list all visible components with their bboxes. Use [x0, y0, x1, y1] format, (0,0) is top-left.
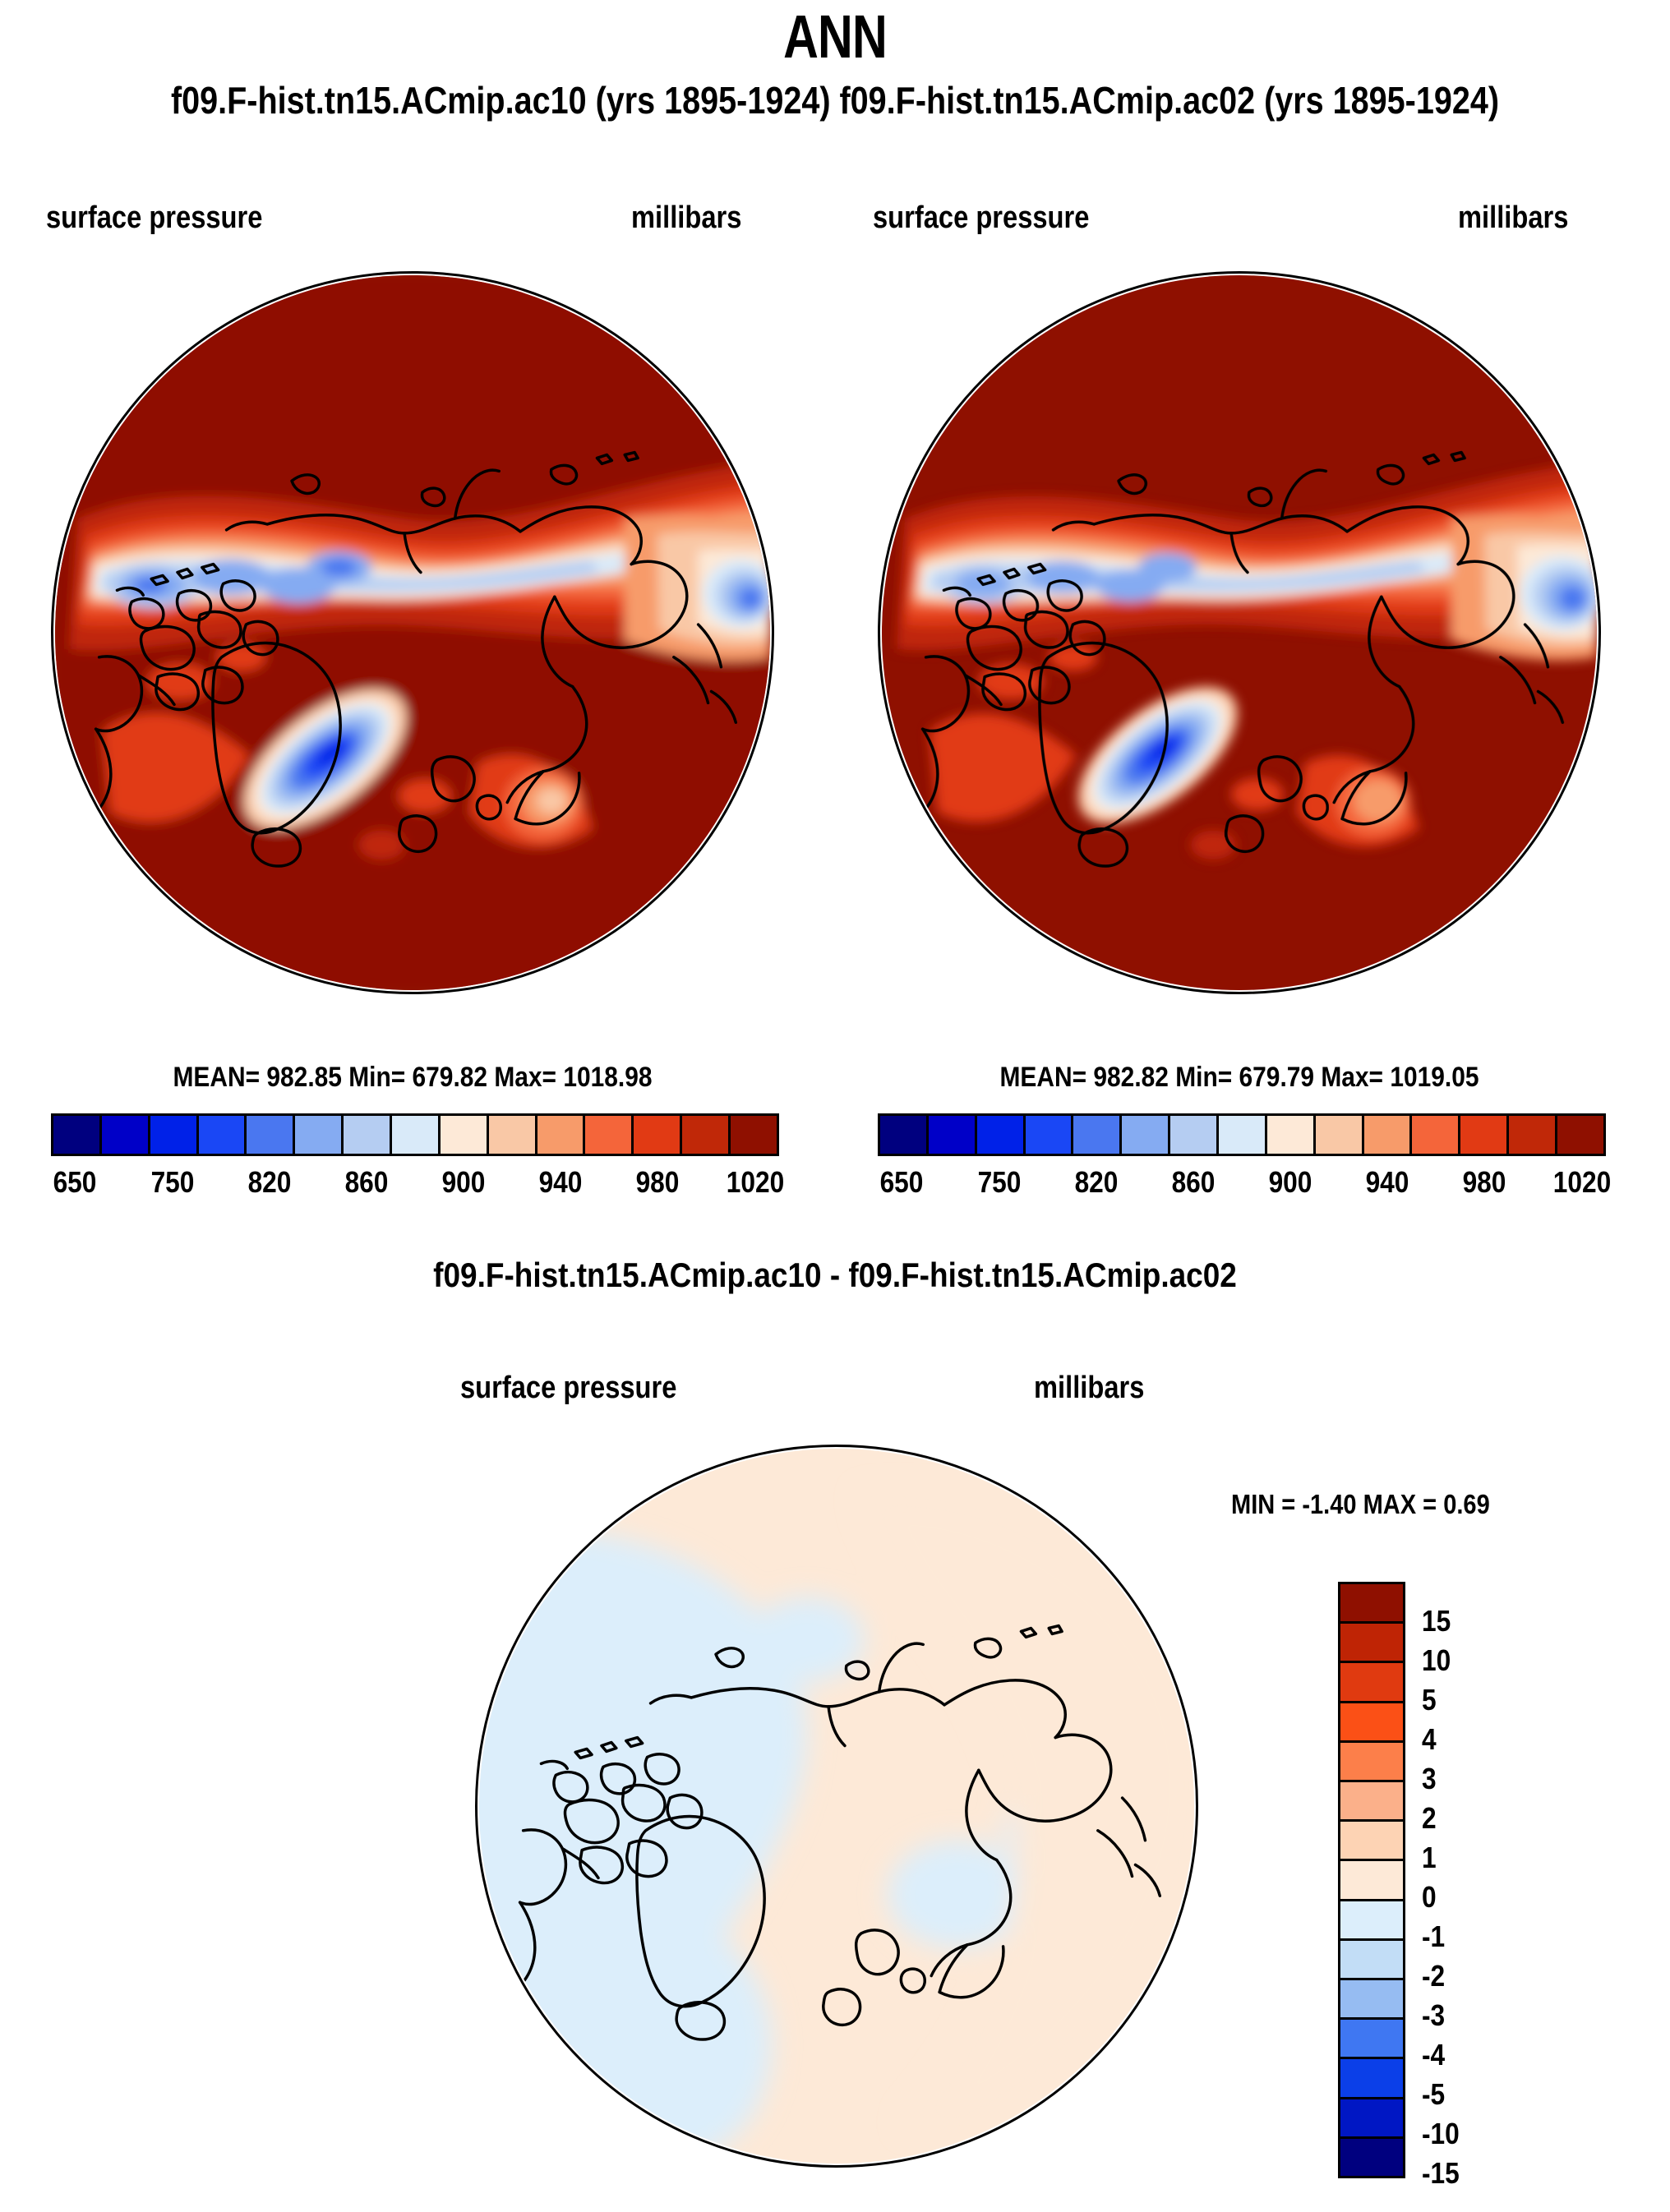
- right-colorbar-segment: [1509, 1116, 1557, 1154]
- difference-colorbar-segment: [1340, 1703, 1403, 1743]
- left-colorbar-labels: 6507508208609009409801020: [51, 1165, 779, 1203]
- left-colorbar-segment: [634, 1116, 682, 1154]
- left-colorbar-segment: [537, 1116, 586, 1154]
- difference-colorbar-tick-label: 15: [1422, 1604, 1451, 1638]
- difference-title: f09.F-hist.tn15.ACmip.ac10 - f09.F-hist.…: [100, 1256, 1570, 1295]
- difference-colorbar[interactable]: [1338, 1582, 1405, 2178]
- difference-colorbar-tick-label: -3: [1422, 1998, 1445, 2033]
- page-title: ANN: [167, 2, 1503, 71]
- difference-minmax: MIN = -1.40 MAX = 0.69: [1231, 1489, 1490, 1520]
- left-colorbar-segment: [295, 1116, 344, 1154]
- left-colorbar-segment: [102, 1116, 150, 1154]
- right-colorbar-tick-label: 940: [1366, 1165, 1409, 1200]
- difference-colorbar-tick-label: -10: [1422, 2117, 1460, 2151]
- difference-colorbar-segment: [1340, 1743, 1403, 1782]
- right-map-contours: [880, 274, 1598, 992]
- left-map-contours: [53, 274, 772, 992]
- left-panel-stats: MEAN= 982.85 Min= 679.82 Max= 1018.98: [95, 1062, 731, 1094]
- difference-colorbar-tick-label: 0: [1422, 1880, 1437, 1915]
- right-colorbar-labels: 6507508208609009409801020: [878, 1165, 1606, 1203]
- difference-colorbar-segment: [1340, 1941, 1403, 1980]
- left-panel-units-label: millibars: [631, 200, 741, 236]
- right-colorbar-segment: [1412, 1116, 1460, 1154]
- difference-colorbar-tick-label: 1: [1422, 1841, 1437, 1875]
- left-colorbar-segment: [150, 1116, 199, 1154]
- right-panel-variable-label: surface pressure: [873, 200, 1089, 236]
- difference-colorbar-tick-label: -2: [1422, 1959, 1445, 1993]
- left-panel-variable-label: surface pressure: [46, 200, 262, 236]
- difference-colorbar-segment: [1340, 2099, 1403, 2139]
- left-colorbar-segment: [53, 1116, 102, 1154]
- left-polar-map[interactable]: [51, 271, 774, 994]
- right-polar-map[interactable]: [878, 271, 1601, 994]
- difference-colorbar-segment: [1340, 1663, 1403, 1703]
- right-colorbar-segment: [1170, 1116, 1219, 1154]
- difference-colorbar-segment: [1340, 2139, 1403, 2176]
- right-colorbar-segment: [1364, 1116, 1413, 1154]
- difference-colorbar-segment: [1340, 1584, 1403, 1624]
- right-colorbar-tick-label: 980: [1463, 1165, 1506, 1200]
- difference-colorbar-segment: [1340, 1861, 1403, 1901]
- left-colorbar-segment: [199, 1116, 247, 1154]
- right-colorbar-tick-label: 650: [880, 1165, 924, 1200]
- difference-colorbar-segment: [1340, 1782, 1403, 1822]
- left-colorbar-tick-label: 1020: [727, 1165, 784, 1200]
- right-panel-units-label: millibars: [1458, 200, 1568, 236]
- right-colorbar-segment: [1557, 1116, 1603, 1154]
- difference-map-contours: [477, 1447, 1196, 2165]
- right-colorbar-segment: [1122, 1116, 1170, 1154]
- left-colorbar-segment: [489, 1116, 537, 1154]
- difference-colorbar-tick-label: 2: [1422, 1801, 1437, 1836]
- left-colorbar-segment: [344, 1116, 392, 1154]
- difference-colorbar-tick-label: -1: [1422, 1919, 1445, 1954]
- right-colorbar-segment: [1316, 1116, 1364, 1154]
- right-colorbar-segment: [1460, 1116, 1509, 1154]
- left-colorbar-tick-label: 900: [442, 1165, 486, 1200]
- right-colorbar-tick-label: 860: [1171, 1165, 1215, 1200]
- diff-panel-units-label: millibars: [1034, 1371, 1144, 1406]
- right-colorbar-segment: [1219, 1116, 1267, 1154]
- left-colorbar-segment: [585, 1116, 634, 1154]
- difference-colorbar-segment: [1340, 2020, 1403, 2059]
- difference-colorbar-segment: [1340, 1901, 1403, 1941]
- difference-polar-map[interactable]: [475, 1445, 1198, 2168]
- right-colorbar-segment: [977, 1116, 1026, 1154]
- right-colorbar-segment: [1267, 1116, 1316, 1154]
- difference-colorbar-tick-label: -4: [1422, 2038, 1445, 2072]
- right-colorbar[interactable]: [878, 1113, 1606, 1156]
- left-colorbar-tick-label: 980: [636, 1165, 680, 1200]
- left-colorbar-tick-label: 860: [344, 1165, 388, 1200]
- difference-colorbar-segment: [1340, 2059, 1403, 2099]
- difference-colorbar-tick-label: 10: [1422, 1643, 1451, 1678]
- right-colorbar-tick-label: 750: [978, 1165, 1022, 1200]
- left-colorbar-segment: [247, 1116, 295, 1154]
- left-colorbar-segment: [731, 1116, 777, 1154]
- difference-colorbar-tick-label: -15: [1422, 2156, 1460, 2191]
- right-panel-stats: MEAN= 982.82 Min= 679.79 Max= 1019.05: [921, 1062, 1557, 1094]
- left-colorbar-tick-label: 750: [151, 1165, 195, 1200]
- difference-colorbar-tick-label: 4: [1422, 1722, 1437, 1757]
- left-colorbar-segment: [441, 1116, 489, 1154]
- right-colorbar-tick-label: 900: [1269, 1165, 1312, 1200]
- difference-colorbar-segment: [1340, 1624, 1403, 1663]
- case-subtitle: f09.F-hist.tn15.ACmip.ac10 (yrs 1895-192…: [117, 78, 1553, 122]
- right-colorbar-segment: [1026, 1116, 1074, 1154]
- difference-colorbar-tick-label: 5: [1422, 1683, 1437, 1717]
- left-colorbar-segment: [682, 1116, 731, 1154]
- left-colorbar-tick-label: 650: [53, 1165, 97, 1200]
- left-colorbar-segment: [392, 1116, 441, 1154]
- difference-colorbar-tick-label: -5: [1422, 2077, 1445, 2112]
- difference-colorbar-segment: [1340, 1980, 1403, 2020]
- left-colorbar-tick-label: 820: [247, 1165, 291, 1200]
- right-colorbar-segment: [1073, 1116, 1122, 1154]
- right-colorbar-tick-label: 820: [1074, 1165, 1118, 1200]
- right-colorbar-segment: [929, 1116, 977, 1154]
- difference-colorbar-tick-label: 3: [1422, 1762, 1437, 1796]
- left-colorbar[interactable]: [51, 1113, 779, 1156]
- right-colorbar-segment: [880, 1116, 929, 1154]
- left-colorbar-tick-label: 940: [539, 1165, 583, 1200]
- difference-colorbar-segment: [1340, 1822, 1403, 1861]
- diff-panel-variable-label: surface pressure: [460, 1371, 676, 1406]
- right-colorbar-tick-label: 1020: [1553, 1165, 1611, 1200]
